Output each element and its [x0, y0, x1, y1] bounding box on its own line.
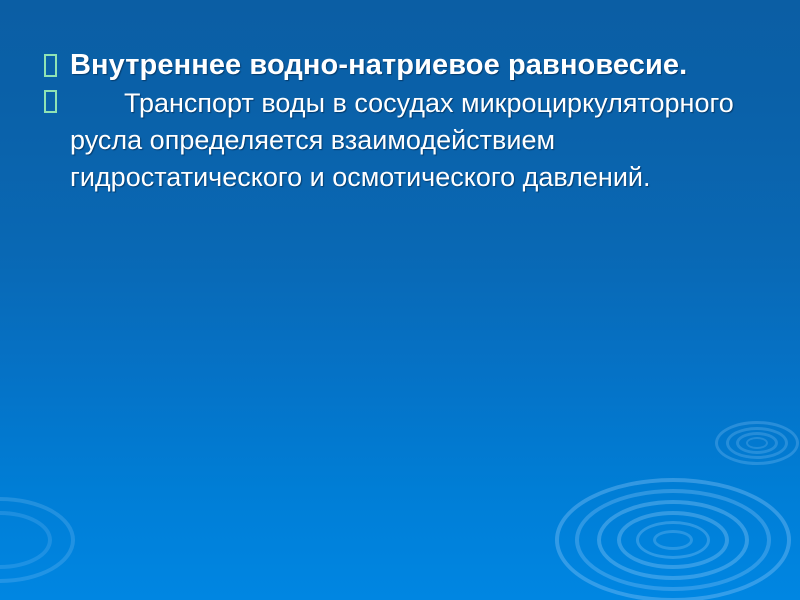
ripple-ring-small-2: [726, 427, 788, 459]
ripple-ring-large-4: [617, 511, 729, 569]
slide-paragraph-text: Транспорт воды в сосудах микроциркулятор…: [70, 85, 744, 196]
ripple-ring-edge-2: [0, 511, 52, 569]
ripple-ring-large-1: [555, 478, 791, 600]
ripple-ring-large-3: [597, 500, 749, 580]
ripple-ring-small-1: [715, 421, 799, 465]
bullet-box-icon: [44, 90, 57, 113]
slide-heading-text: Внутреннее водно-натриевое равновесие.: [70, 46, 744, 85]
bullet-item-heading: Внутреннее водно-натриевое равновесие.: [44, 46, 744, 85]
ripple-ring-edge-1: [0, 497, 75, 583]
ripple-ring-large-5: [636, 521, 710, 559]
bullet-box-icon: [44, 54, 57, 77]
ripple-ring-large-6: [653, 530, 693, 550]
ripple-ring-large-2: [575, 489, 771, 591]
bullet-item-paragraph: Транспорт воды в сосудах микроциркулятор…: [44, 85, 744, 196]
ripple-ring-small-4: [746, 437, 768, 449]
presentation-slide: Внутреннее водно-натриевое равновесие. Т…: [0, 0, 800, 600]
slide-content: Внутреннее водно-натриевое равновесие. Т…: [44, 46, 744, 196]
ripple-ring-small-3: [736, 432, 778, 454]
